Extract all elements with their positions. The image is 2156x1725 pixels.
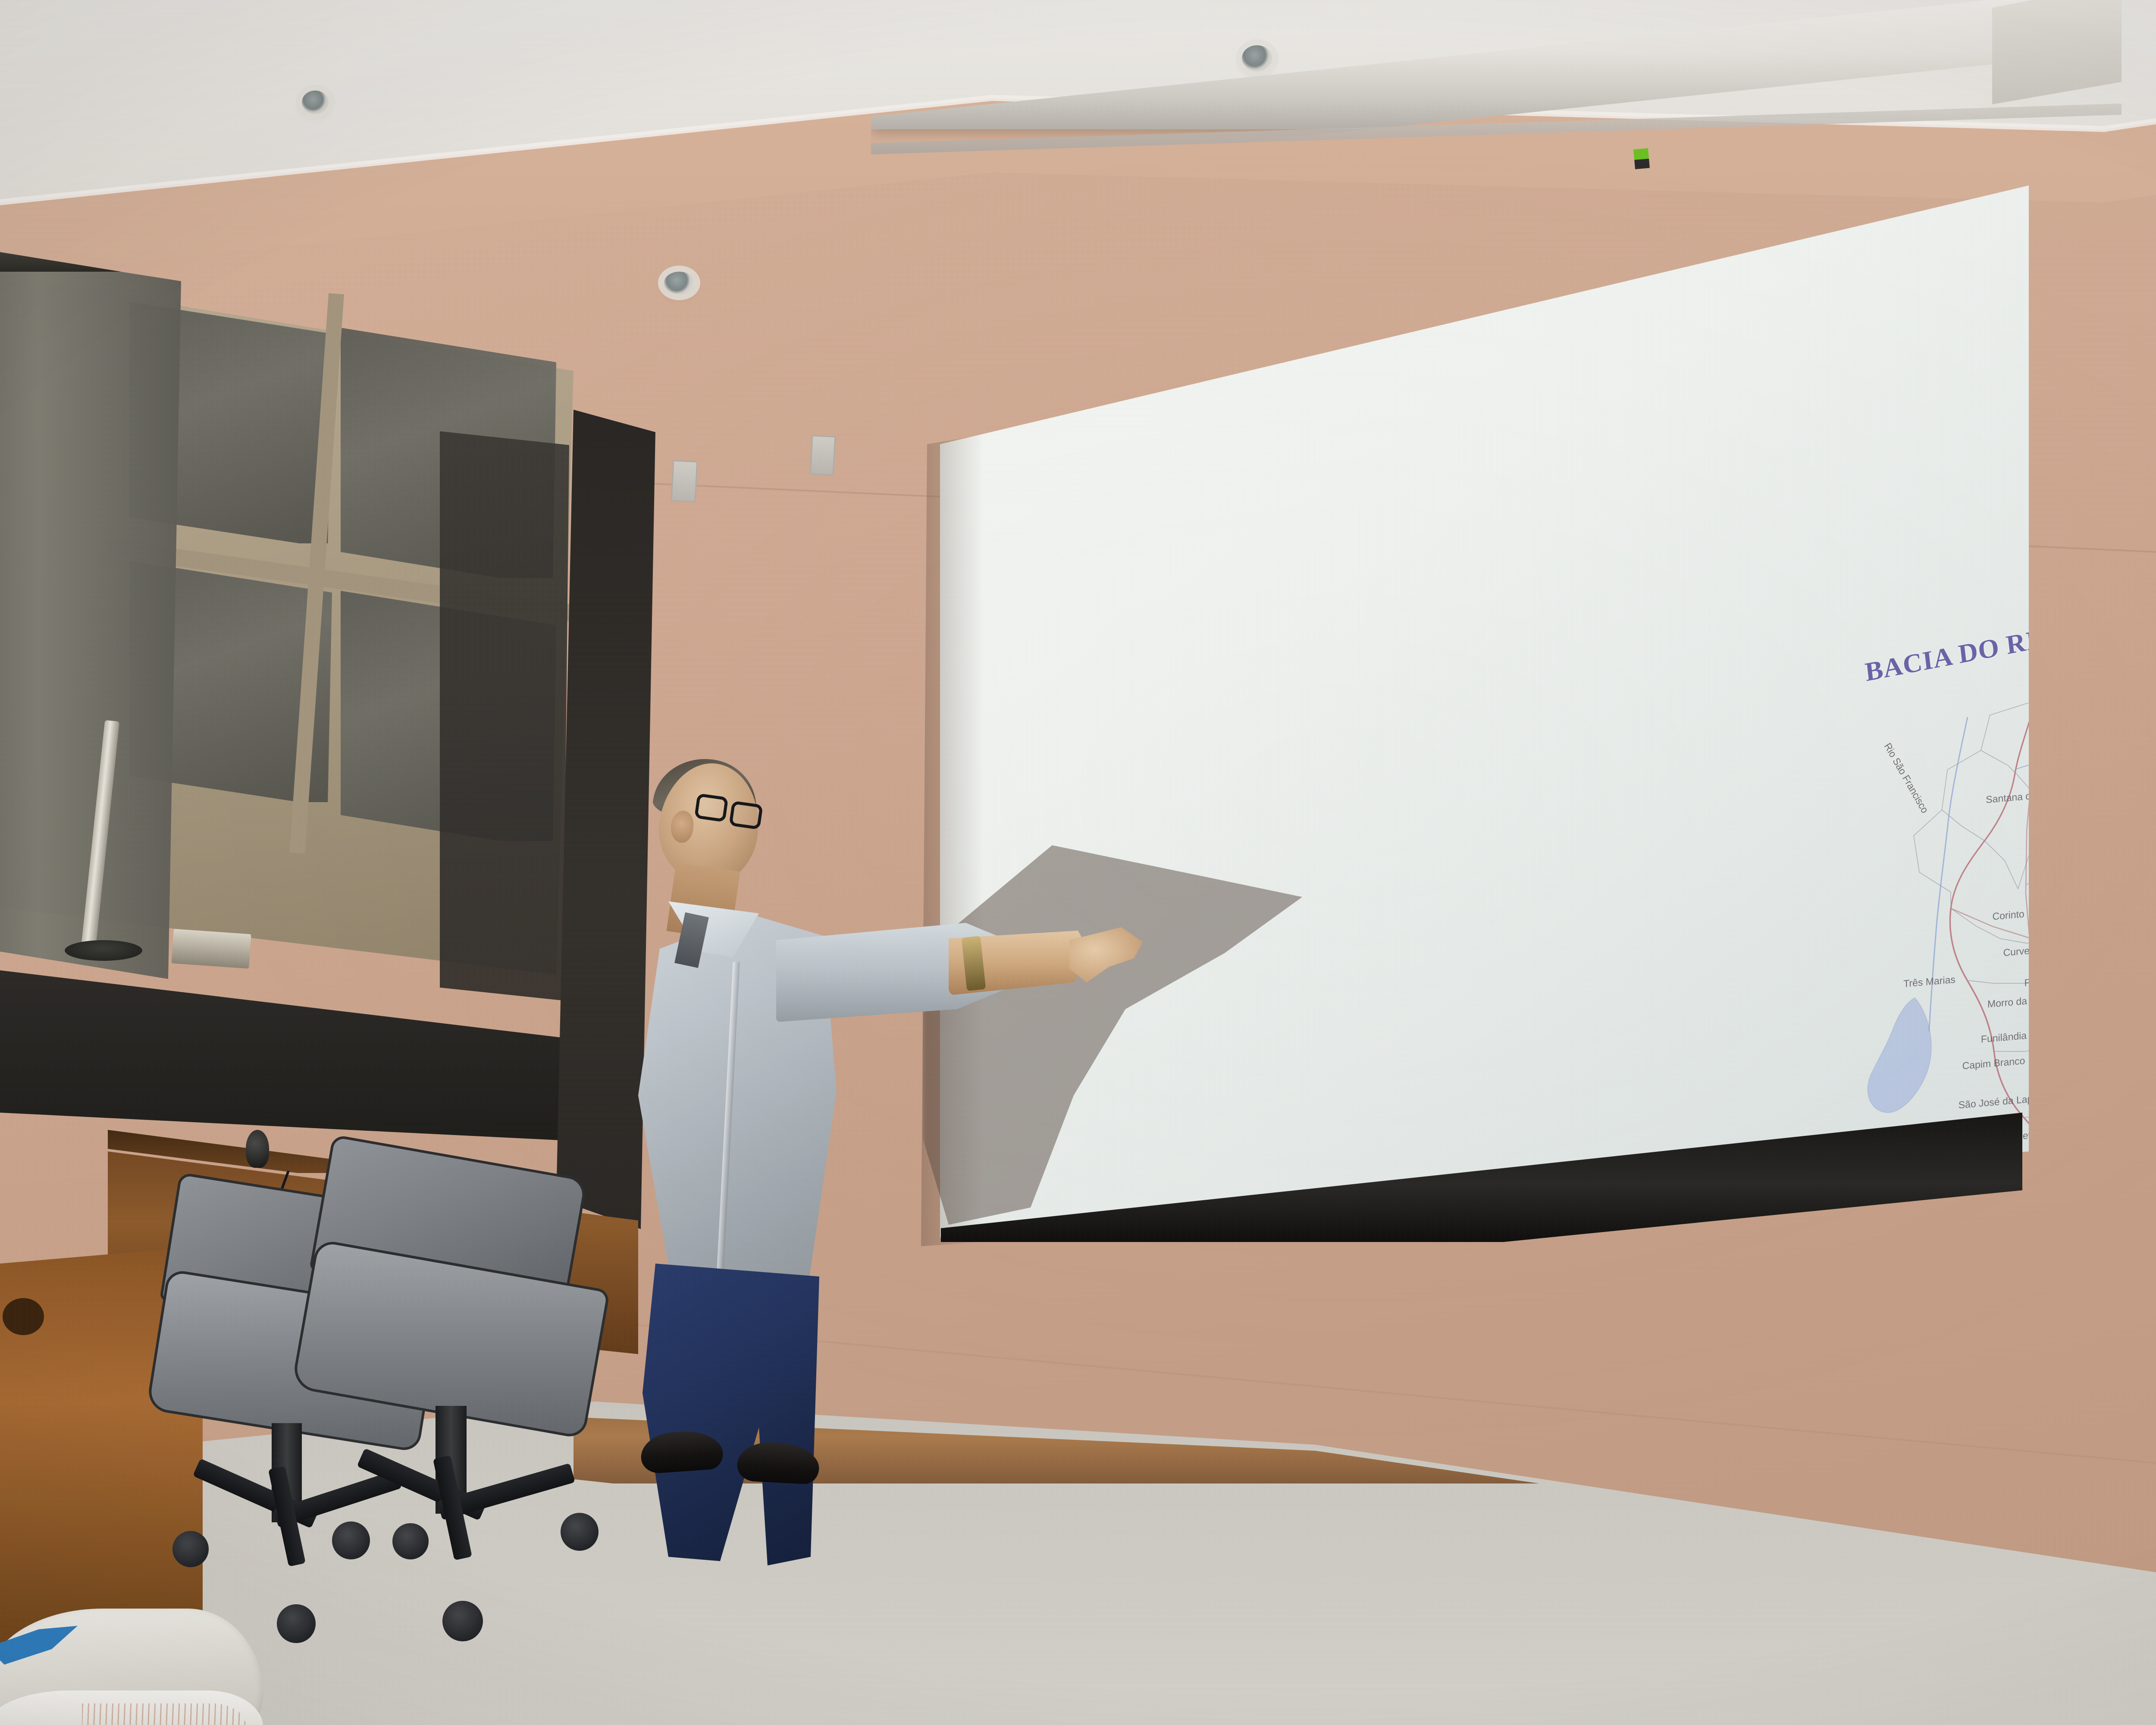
presenter-jeans	[638, 1264, 828, 1565]
sneaker-sole-ribs	[82, 1703, 246, 1725]
sneaker-foreground	[0, 1609, 263, 1725]
air-vent	[810, 435, 836, 476]
chair-caster	[442, 1601, 483, 1641]
stacked-papers[interactable]	[171, 929, 251, 969]
ceiling-spotlight	[1242, 45, 1272, 71]
pointer-stick-base	[65, 940, 142, 961]
photo-scene: O TERRITÓRIO O projeto Manuelzão buscou …	[0, 0, 2156, 1725]
cabinet-cable-hole	[3, 1298, 44, 1335]
microphone[interactable]	[246, 1130, 269, 1168]
presenter	[595, 759, 923, 1535]
chair-caster	[332, 1521, 370, 1559]
air-vent	[671, 460, 698, 503]
ceiling-spotlight	[302, 91, 329, 114]
chair-caster	[172, 1531, 209, 1567]
chair-caster	[277, 1604, 316, 1643]
ceiling-spotlight	[664, 272, 694, 294]
acoustic-panel	[440, 431, 569, 1000]
housing-label	[1633, 148, 1650, 169]
chair-caster	[561, 1513, 599, 1551]
